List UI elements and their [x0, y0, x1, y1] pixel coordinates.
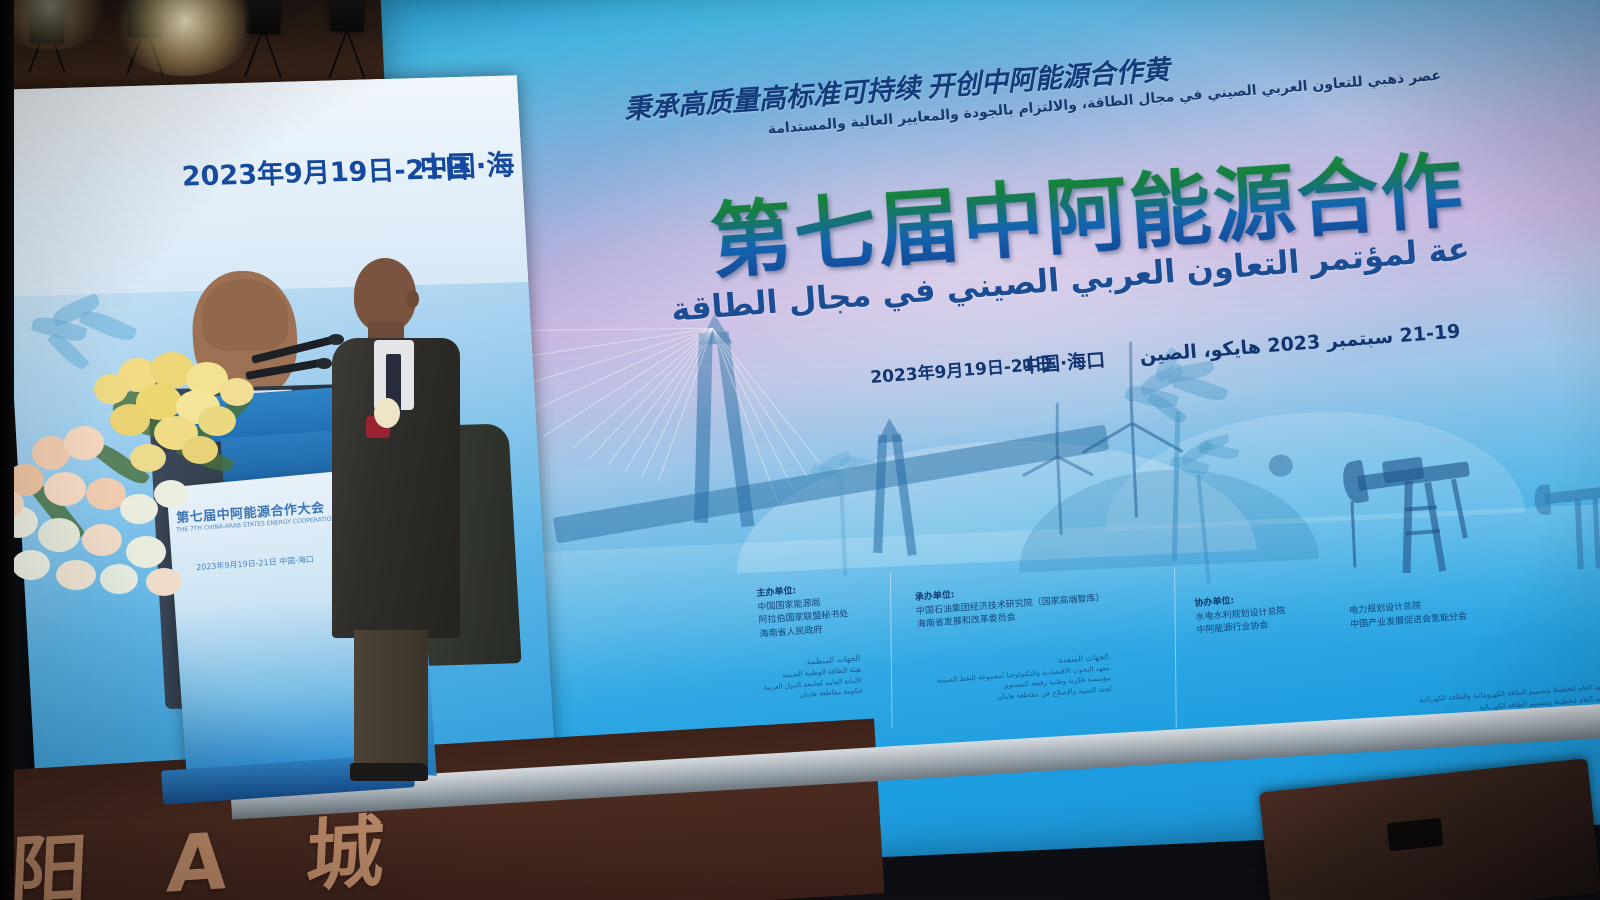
speaker-ear	[406, 290, 419, 308]
sponsor-column-organizer: 主办单位: 中国国家能源局 阿拉伯国家联盟秘书处 海南省人民政府 الجهات …	[756, 581, 863, 703]
oil-pumpjack-graphic	[1341, 428, 1517, 576]
projection-location-text: 中国·海	[419, 143, 516, 186]
speaker-boutonniere	[374, 398, 400, 428]
sponsor-column-coorganizer: 协办单位: 水电水利规划设计总院 中阿能源行业协会	[1194, 591, 1287, 638]
left-dark-post	[0, 0, 14, 900]
sponsor-column-host: 承办单位: 中国石油集团经济技术研究院（国家高端智库） 海南省发展和改革委员会 …	[915, 578, 1112, 708]
conference-stage-photo: 秉承高质量高标准可持续 开创中阿能源合作黄 عصر ذهبي للتعاون ا…	[0, 0, 1600, 900]
speaker-shoe	[350, 763, 428, 781]
conference-date-arabic: 21-19 سبتمبر 2023 هايكو، الصين	[1139, 320, 1461, 367]
projection-palm-graphic-3	[79, 306, 138, 345]
floral-arrangement	[0, 352, 320, 652]
speaker-at-podium	[330, 258, 470, 738]
speaker-trousers	[354, 630, 428, 780]
loudspeaker-port	[1387, 818, 1444, 851]
oil-pumpjack-graphic-2	[1533, 462, 1600, 577]
